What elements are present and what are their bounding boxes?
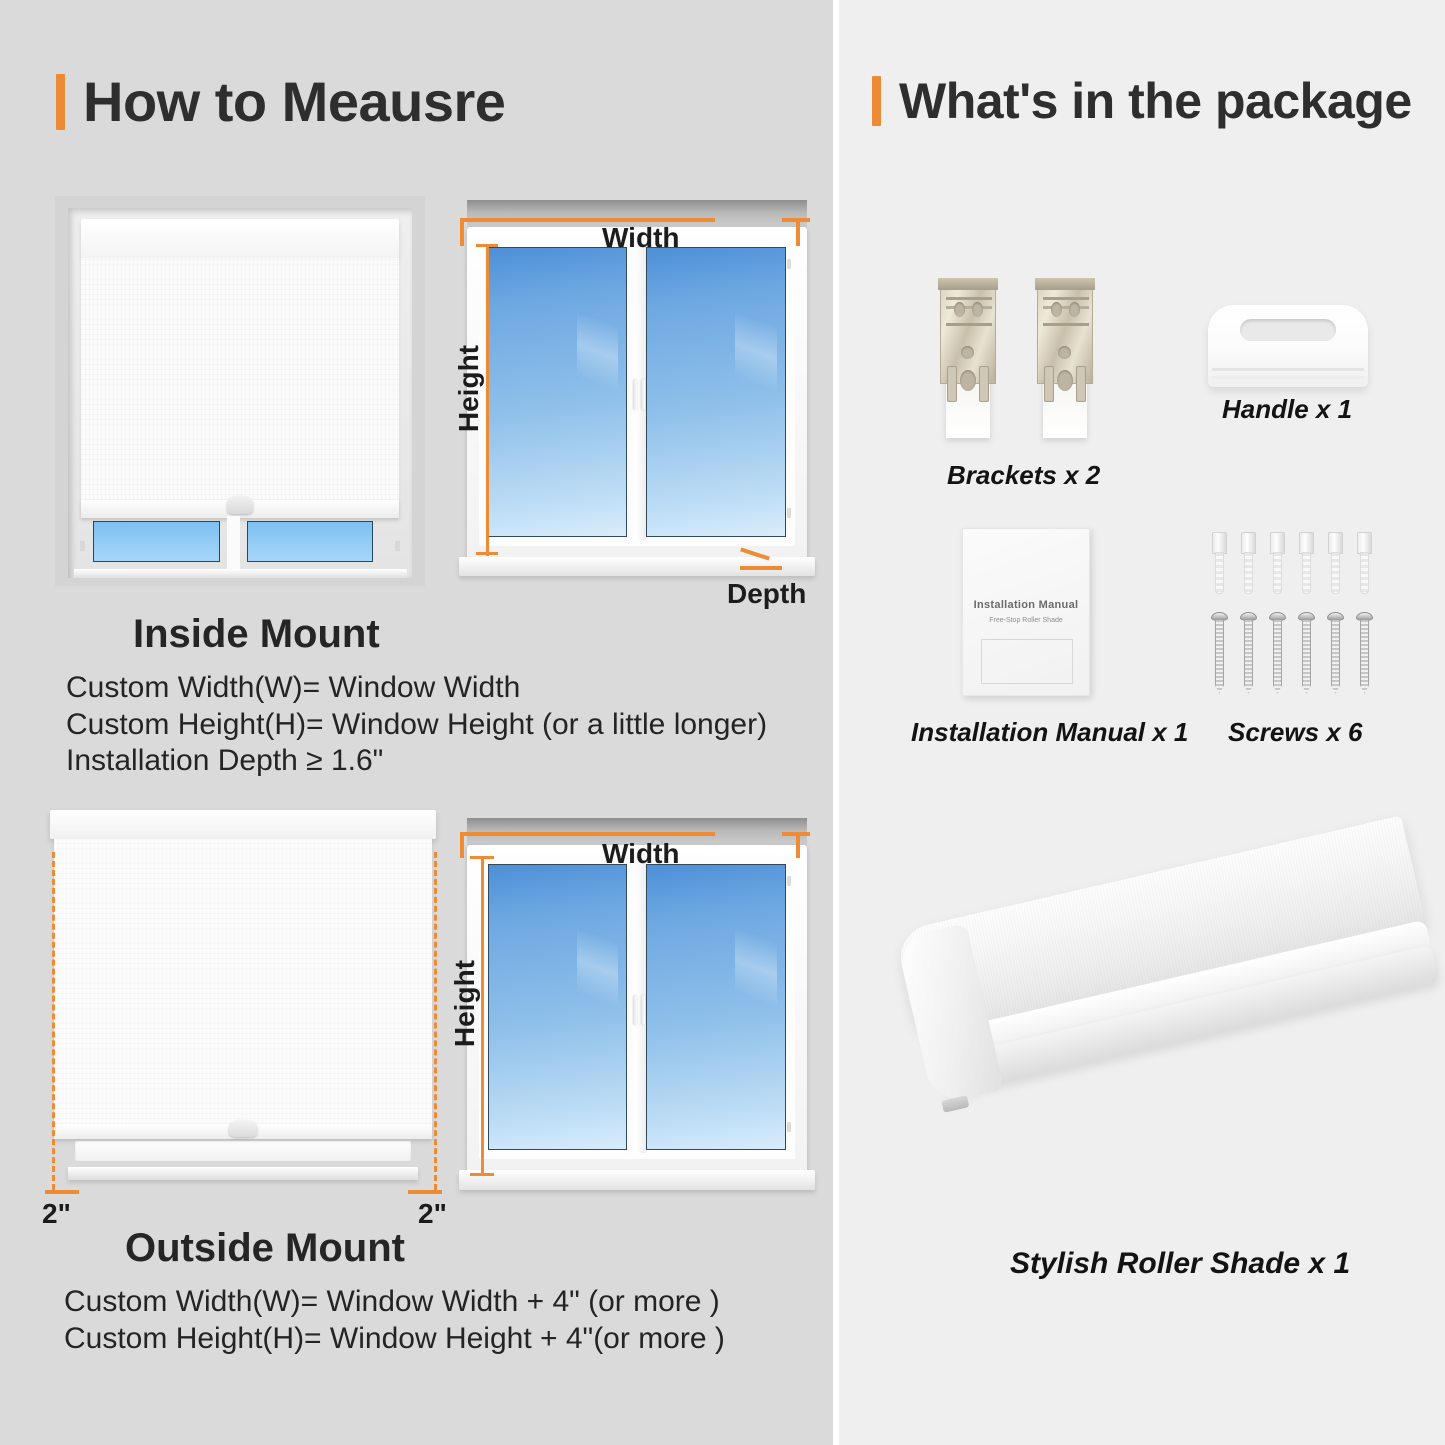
bracket-hole [1051,302,1062,317]
right-heading-text: What's in the package [899,76,1412,126]
shade-valance [81,219,399,258]
accent-bar-icon [56,74,65,130]
screw-shaft [1360,620,1369,694]
left-heading-text: How to Meausre [83,74,505,130]
bracket-hole [954,302,965,317]
screw-5 [1327,612,1344,694]
installation-manual-item: Installation Manual Free-Stop Roller Sha… [962,528,1090,696]
bracket-keyhole [1057,370,1073,391]
offset-arrow-right [408,1190,442,1194]
window-hinge-right-icon [395,541,400,551]
anchor-head [1299,532,1314,554]
shade-end-pin [941,1095,969,1113]
manual-cover-title: Installation Manual [963,599,1089,611]
dim-line-depth [740,566,782,570]
screw-6 [1356,612,1373,694]
outside-mount-dimension-window: Width Height [452,818,822,1203]
right-panel-heading: What's in the package [872,76,1412,126]
dim-tick-height-top [470,856,494,859]
glass-pane-right [646,247,785,537]
window-handle-left-icon [633,379,637,410]
anchor-body [1215,552,1224,594]
anchor-body [1244,552,1253,594]
wall-anchor-2 [1240,532,1257,594]
inside-mount-line-1: Custom Width(W)= Window Width [66,670,767,707]
dim-line-height [481,858,484,1176]
offset-guide-right [434,852,437,1190]
screw-shaft [1244,620,1253,694]
dim-label-height: Height [449,960,481,1047]
outside-mount-text-block: Custom Width(W)= Window Width + 4" (or m… [64,1284,725,1357]
handle-item [1208,305,1368,387]
glass-pane-left [488,864,627,1150]
panel-divider [833,0,839,1445]
screw-head [1240,612,1257,621]
outside-mount-line-2: Custom Height(H)= Window Height + 4"(or … [64,1321,725,1358]
window-hinge-top-icon [787,876,790,886]
dim-tick-height-bottom [470,1173,494,1176]
dim-mark-top-right-tick [796,218,800,246]
anchor-body [1331,552,1340,594]
screw-3 [1269,612,1286,694]
screw-shaft [1273,620,1282,694]
screw-4 [1298,612,1315,694]
handle-label: Handle x 1 [1222,394,1352,425]
window-sill [74,569,407,578]
bracket-hole [1058,346,1071,359]
offset-label-right: 2" [418,1198,447,1230]
glass-pane-right [646,864,785,1150]
shade-fabric [81,258,399,500]
inside-mount-line-3: Installation Depth ≥ 1.6" [66,743,767,780]
glass-pane-left [93,521,220,562]
bracket-item-2 [1035,278,1095,438]
screw-head [1211,612,1228,621]
outside-mount-title: Outside Mount [125,1226,405,1271]
screw-shaft [1215,620,1224,694]
screw-shaft [1302,620,1311,694]
window-hinge-bottom-icon [787,508,790,518]
offset-label-left: 2" [42,1198,71,1230]
inside-mount-dimension-window: Width Height Depth [452,200,822,590]
window-sash [479,855,796,1160]
bracket-slot-left [1044,366,1054,402]
wall-anchor-5 [1327,532,1344,594]
dim-label-width: Width [602,222,680,254]
window-sill [68,1167,418,1180]
wall-anchor-6 [1356,532,1373,594]
dim-line-top [460,832,715,836]
bracket-slot-left [947,366,957,402]
anchor-head [1328,532,1343,554]
inside-mount-shade-illustration [55,196,425,586]
screw-1 [1211,612,1228,694]
window-mullion [227,516,240,570]
dim-label-width: Width [602,838,680,870]
dim-tick-height-top [476,244,498,247]
outside-mount-shade-illustration [38,810,448,1195]
anchor-head [1212,532,1227,554]
anchor-body [1273,552,1282,594]
shade-headrail [50,810,435,839]
glass-pane-left [488,247,627,537]
dim-mark-top-left [460,218,464,246]
bracket-slot-right [979,366,989,402]
bracket-item-1 [938,278,998,438]
window-handle-left-icon [633,995,637,1025]
window-sill-below-shade [75,1137,411,1179]
bracket-top-clip [1035,278,1095,290]
anchor-head [1270,532,1285,554]
window-hinge-bottom-icon [787,1122,790,1132]
brackets-label: Brackets x 2 [947,460,1100,491]
window-hinge-left-icon [80,541,85,551]
manual-cover-illustration [981,639,1074,684]
window-frame-edge [75,1141,411,1160]
window-hinge-top-icon [787,259,790,269]
window-sash [479,237,796,546]
anchor-head [1357,532,1372,554]
outside-mount-line-1: Custom Width(W)= Window Width + 4" (or m… [64,1284,725,1321]
screw-shaft [1331,620,1340,694]
anchor-head [1241,532,1256,554]
inside-mount-text-block: Custom Width(W)= Window Width Custom Hei… [66,670,767,780]
wall-anchor-3 [1269,532,1286,594]
screw-head [1356,612,1373,621]
wall-anchor-4 [1298,532,1315,594]
wall-anchor-1 [1211,532,1228,594]
anchor-body [1302,552,1311,594]
screw-head [1298,612,1315,621]
window-frame [467,845,807,1176]
dim-mark-top-right-tick [796,832,800,858]
shade-pull-handle [229,1120,258,1137]
shade-pull-handle [227,496,253,514]
dim-tick-height-bottom [476,552,498,555]
roller-shade-label: Stylish Roller Shade x 1 [1010,1247,1350,1281]
anchor-body [1360,552,1369,594]
shade-fabric [54,839,431,1124]
installation-manual-label: Installation Manual x 1 [911,717,1188,748]
window-handle-right-icon [641,995,645,1025]
glass-pane-right [247,521,374,562]
window-below-shade [74,516,407,578]
window-sill [459,1170,814,1189]
window-frame [467,227,807,562]
infographic-page: How to Meausre What's in the package [0,0,1445,1445]
offset-arrow-left [45,1190,79,1194]
bracket-hole [972,302,983,317]
left-panel-heading: How to Meausre [56,74,505,130]
window-handle-right-icon [641,379,645,410]
accent-bar-icon [872,76,881,126]
dim-label-height: Height [453,345,485,432]
dim-label-depth: Depth [727,578,806,610]
dim-line-height [486,246,489,556]
bracket-hole [1069,302,1080,317]
bracket-keyhole [960,370,976,391]
inside-mount-line-2: Custom Height(H)= Window Height (or a li… [66,707,767,744]
screw-head [1269,612,1286,621]
bracket-hole [961,346,974,359]
roller-shade-product-image [915,900,1435,1200]
inside-mount-title: Inside Mount [133,612,380,657]
offset-guide-left [52,852,55,1190]
screws-label: Screws x 6 [1228,717,1362,748]
screw-head [1327,612,1344,621]
screw-2 [1240,612,1257,694]
manual-cover-subtitle: Free-Stop Roller Shade [963,617,1089,624]
bracket-top-clip [938,278,998,290]
bracket-slot-right [1076,366,1086,402]
